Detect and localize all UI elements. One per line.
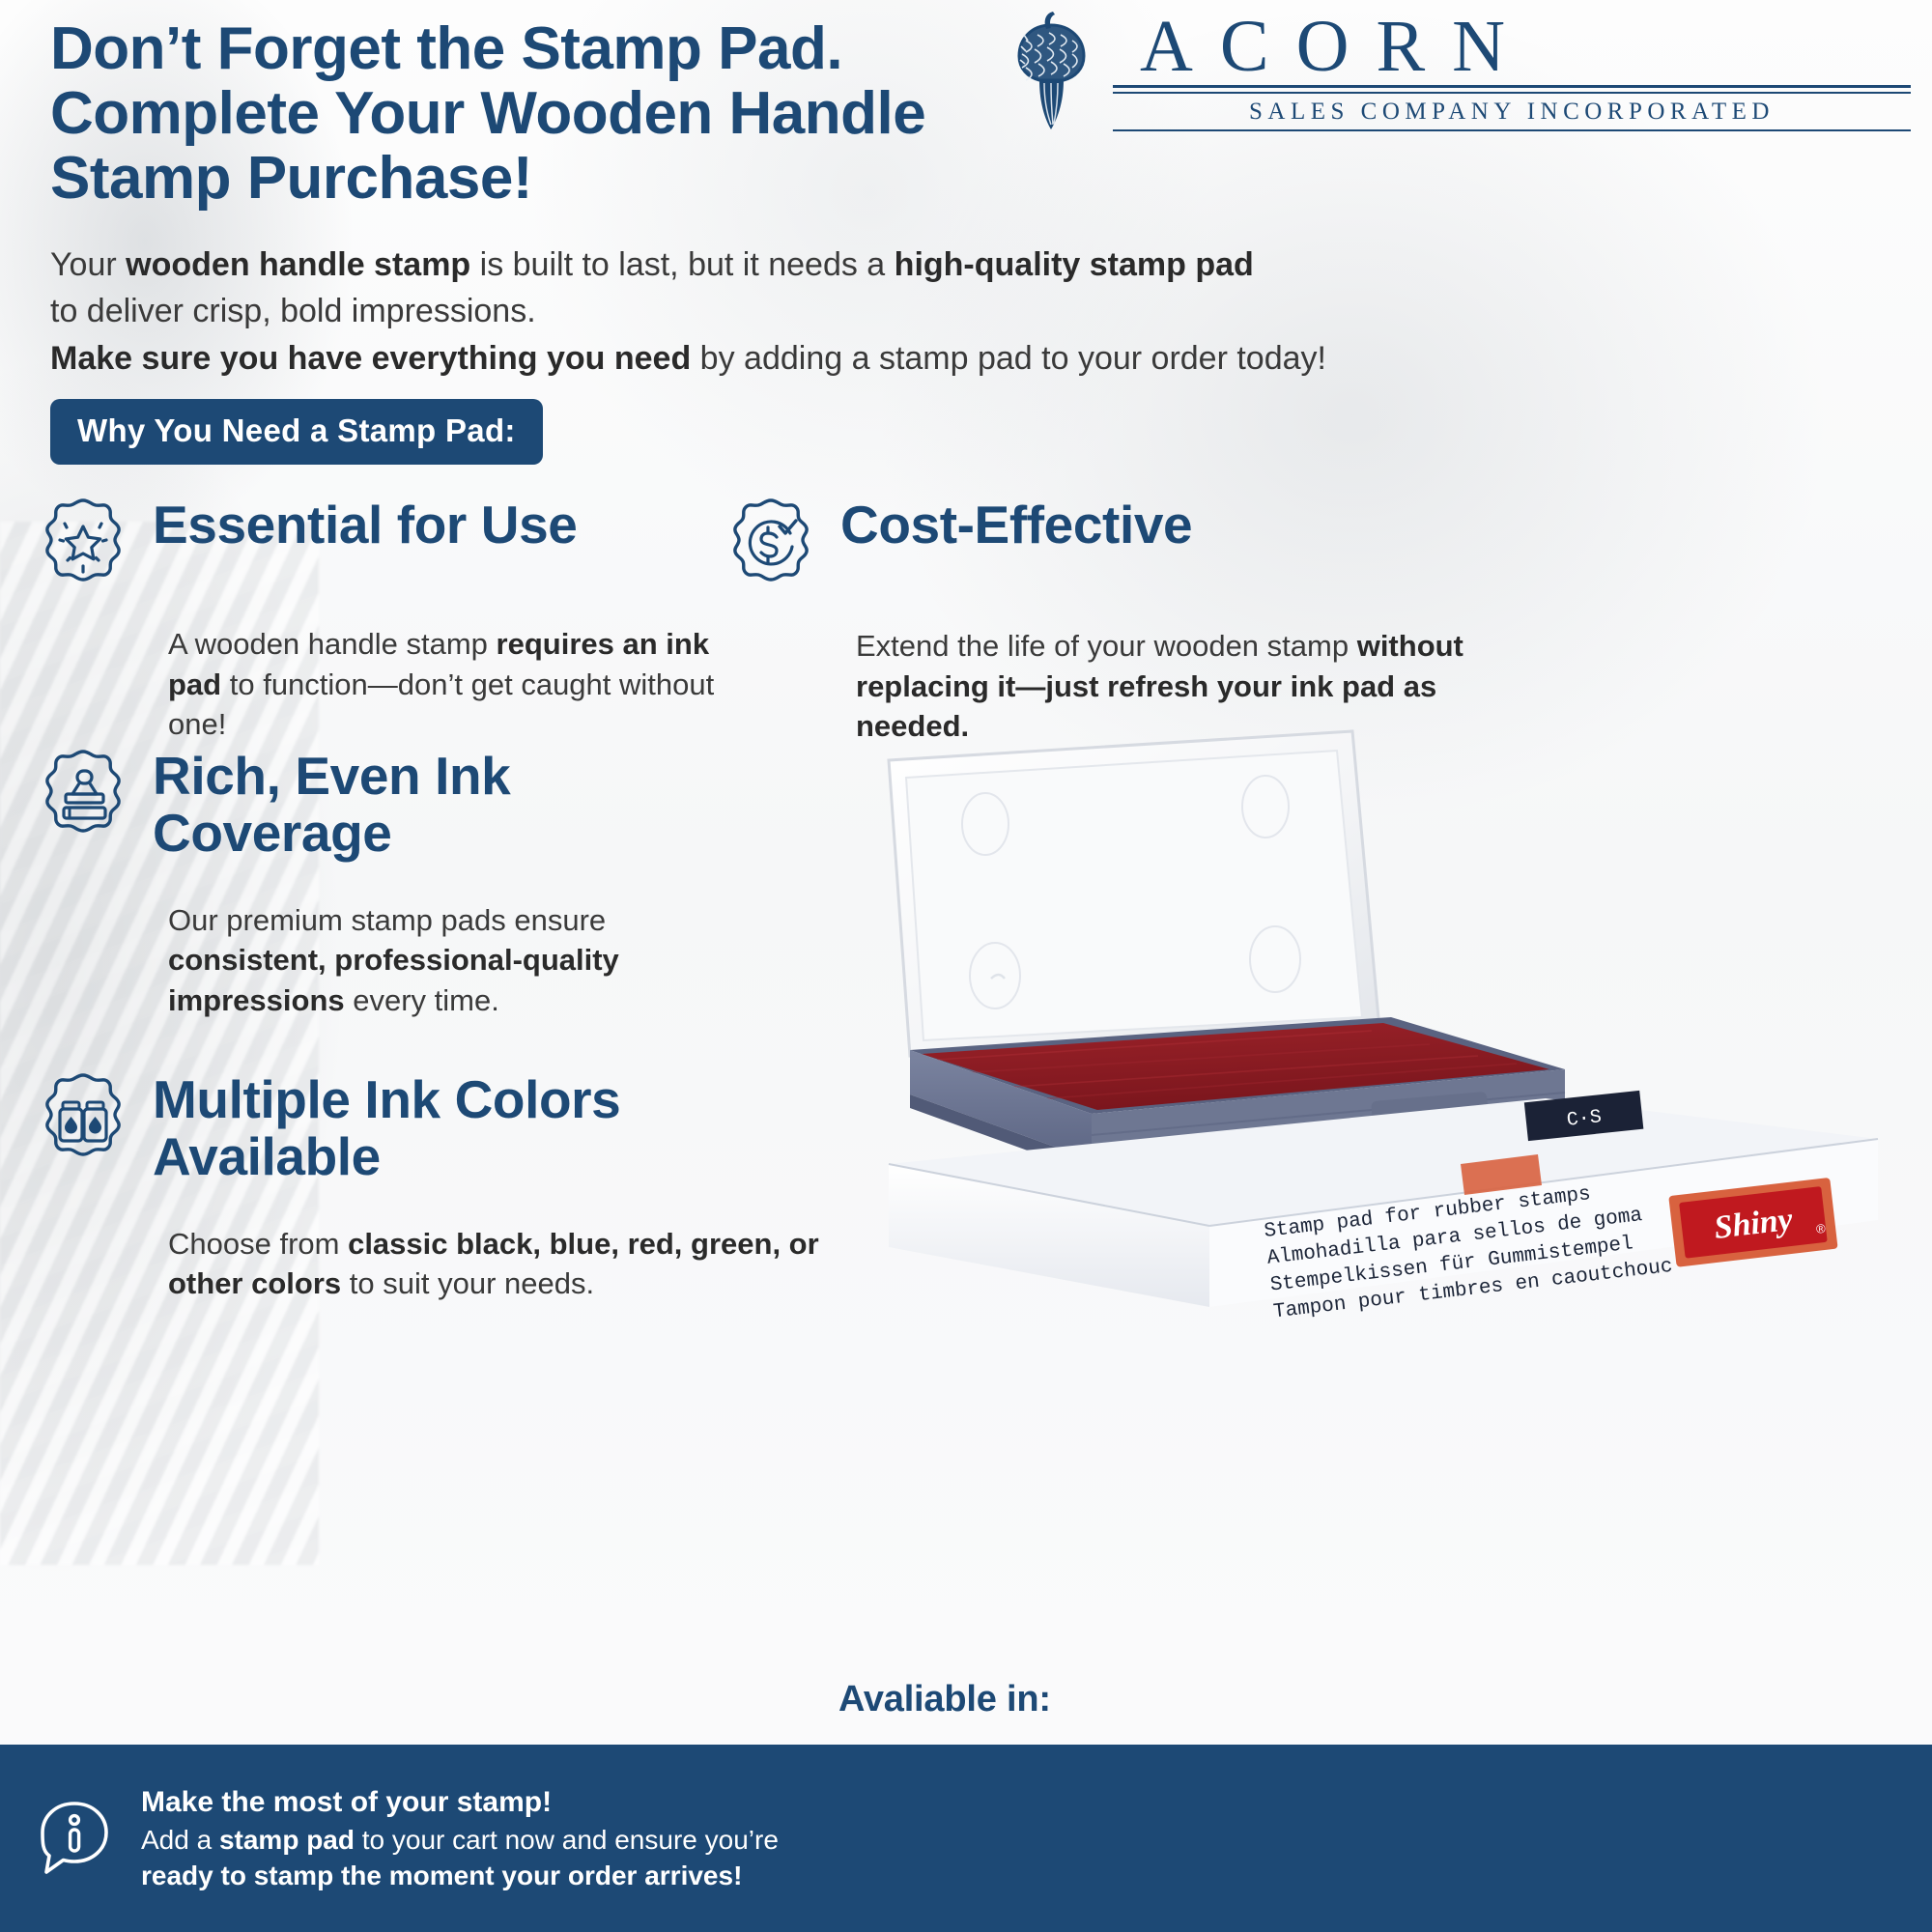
stamp-pad-photo: Stamp pad for rubber stamps Almohadilla … — [850, 710, 1913, 1328]
info-bubble-icon — [33, 1797, 116, 1880]
feature-title: Multiple Ink Colors Available — [153, 1067, 732, 1185]
intro-l1b: wooden handle stamp — [126, 246, 470, 283]
feature-header: Cost-Effective — [726, 493, 1499, 597]
logo-rules: SALES COMPANY INCORPORATED — [1113, 85, 1911, 131]
feature-essential-for-use: Essential for Use A wooden handle stamp … — [39, 493, 753, 745]
feature-title: Cost-Effective — [840, 493, 1192, 554]
logo-text-block: ACORN SALES COMPANY INCORPORATED — [1113, 8, 1911, 131]
intro-l3a: Make sure you have everything you need — [50, 340, 691, 377]
cta-content: Make the most of your stamp! Add a stamp… — [0, 1745, 835, 1932]
acorn-icon — [1003, 8, 1099, 131]
feature-body-a: Choose from — [168, 1227, 348, 1261]
cta-l2b: stamp pad — [219, 1825, 355, 1855]
intro-paragraph: Your wooden handle stamp is built to las… — [50, 241, 1383, 382]
feature-title: Rich, Even Ink Coverage — [153, 744, 597, 862]
feature-header: Multiple Ink Colors Available — [39, 1067, 840, 1185]
intro-line-1: Your wooden handle stamp is built to las… — [50, 241, 1383, 288]
headline-line-2: Complete Your Wooden Handle — [50, 82, 1016, 147]
cta-l2c: to your cart now and ensure you’re — [355, 1825, 779, 1855]
intro-line-3: Make sure you have everything you need b… — [50, 335, 1383, 382]
feature-header: Essential for Use — [39, 493, 753, 597]
feature-header: Rich, Even Ink Coverage — [39, 744, 753, 862]
side-code-text: C·S — [1566, 1106, 1603, 1132]
infographic-page: Don’t Forget the Stamp Pad. Complete You… — [0, 0, 1932, 1932]
cta-text: Make the most of your stamp! Add a stamp… — [141, 1783, 779, 1893]
pad-lid — [889, 731, 1379, 1056]
logo-wordmark: ACORN — [1113, 12, 1911, 81]
ink-bottles-badge-icon — [39, 1071, 128, 1172]
headline-line-3: Stamp Purchase! — [50, 147, 1016, 212]
cta-bar: Make the most of your stamp! Add a stamp… — [0, 1745, 1932, 1932]
logo-rule-bottom — [1113, 129, 1911, 131]
intro-l1d: high-quality stamp pad — [895, 246, 1254, 283]
intro-l3b: by adding a stamp pad to your order toda… — [691, 340, 1326, 377]
feature-body-c: to function—don’t get caught without one… — [168, 668, 714, 742]
cta-line-2: Add a stamp pad to your cart now and ens… — [141, 1822, 779, 1858]
feature-body: A wooden handle stamp requires an ink pa… — [168, 624, 748, 745]
feature-body-c: to suit your needs. — [341, 1266, 594, 1300]
why-you-need-badge: Why You Need a Stamp Pad: — [50, 399, 543, 465]
intro-line-2: to deliver crisp, bold impressions. — [50, 288, 1383, 334]
feature-body: Our premium stamp pads ensure consistent… — [168, 900, 709, 1021]
page-title: Don’t Forget the Stamp Pad. Complete You… — [50, 17, 1016, 212]
rubber-stamp-badge-icon — [39, 748, 128, 848]
cta-l2a: Add a — [141, 1825, 219, 1855]
feature-cost-effective: Cost-Effective Extend the life of your w… — [726, 493, 1499, 747]
available-in-label: Avaliable in: — [838, 1679, 1051, 1720]
intro-l1a: Your — [50, 246, 126, 283]
feature-body-a: Extend the life of your wooden stamp — [856, 629, 1357, 663]
feature-body-a: A wooden handle stamp — [168, 627, 497, 661]
intro-l1c: is built to last, but it needs a — [470, 246, 894, 283]
feature-title: Essential for Use — [153, 493, 577, 554]
brand-logo[interactable]: ACORN SALES COMPANY INCORPORATED — [1003, 8, 1911, 133]
feature-body: Choose from classic black, blue, red, gr… — [168, 1224, 825, 1304]
product-photo: Stamp pad for rubber stamps Almohadilla … — [850, 710, 1913, 1328]
feature-multiple-ink-colors: Multiple Ink Colors Available Choose fro… — [39, 1067, 840, 1304]
cta-line-1: Make the most of your stamp! — [141, 1783, 779, 1822]
star-badge-icon — [39, 497, 128, 597]
cta-l3: ready to stamp the moment your order arr… — [141, 1861, 742, 1890]
dollar-check-badge-icon — [726, 497, 815, 597]
feature-rich-even-ink-coverage: Rich, Even Ink Coverage Our premium stam… — [39, 744, 753, 1020]
feature-body-a: Our premium stamp pads ensure — [168, 903, 606, 937]
feature-body-c: every time. — [345, 983, 499, 1017]
headline-line-1: Don’t Forget the Stamp Pad. — [50, 17, 1016, 82]
cta-line-3: ready to stamp the moment your order arr… — [141, 1858, 779, 1893]
header: Don’t Forget the Stamp Pad. Complete You… — [0, 0, 1932, 193]
logo-tagline: SALES COMPANY INCORPORATED — [1113, 94, 1911, 129]
